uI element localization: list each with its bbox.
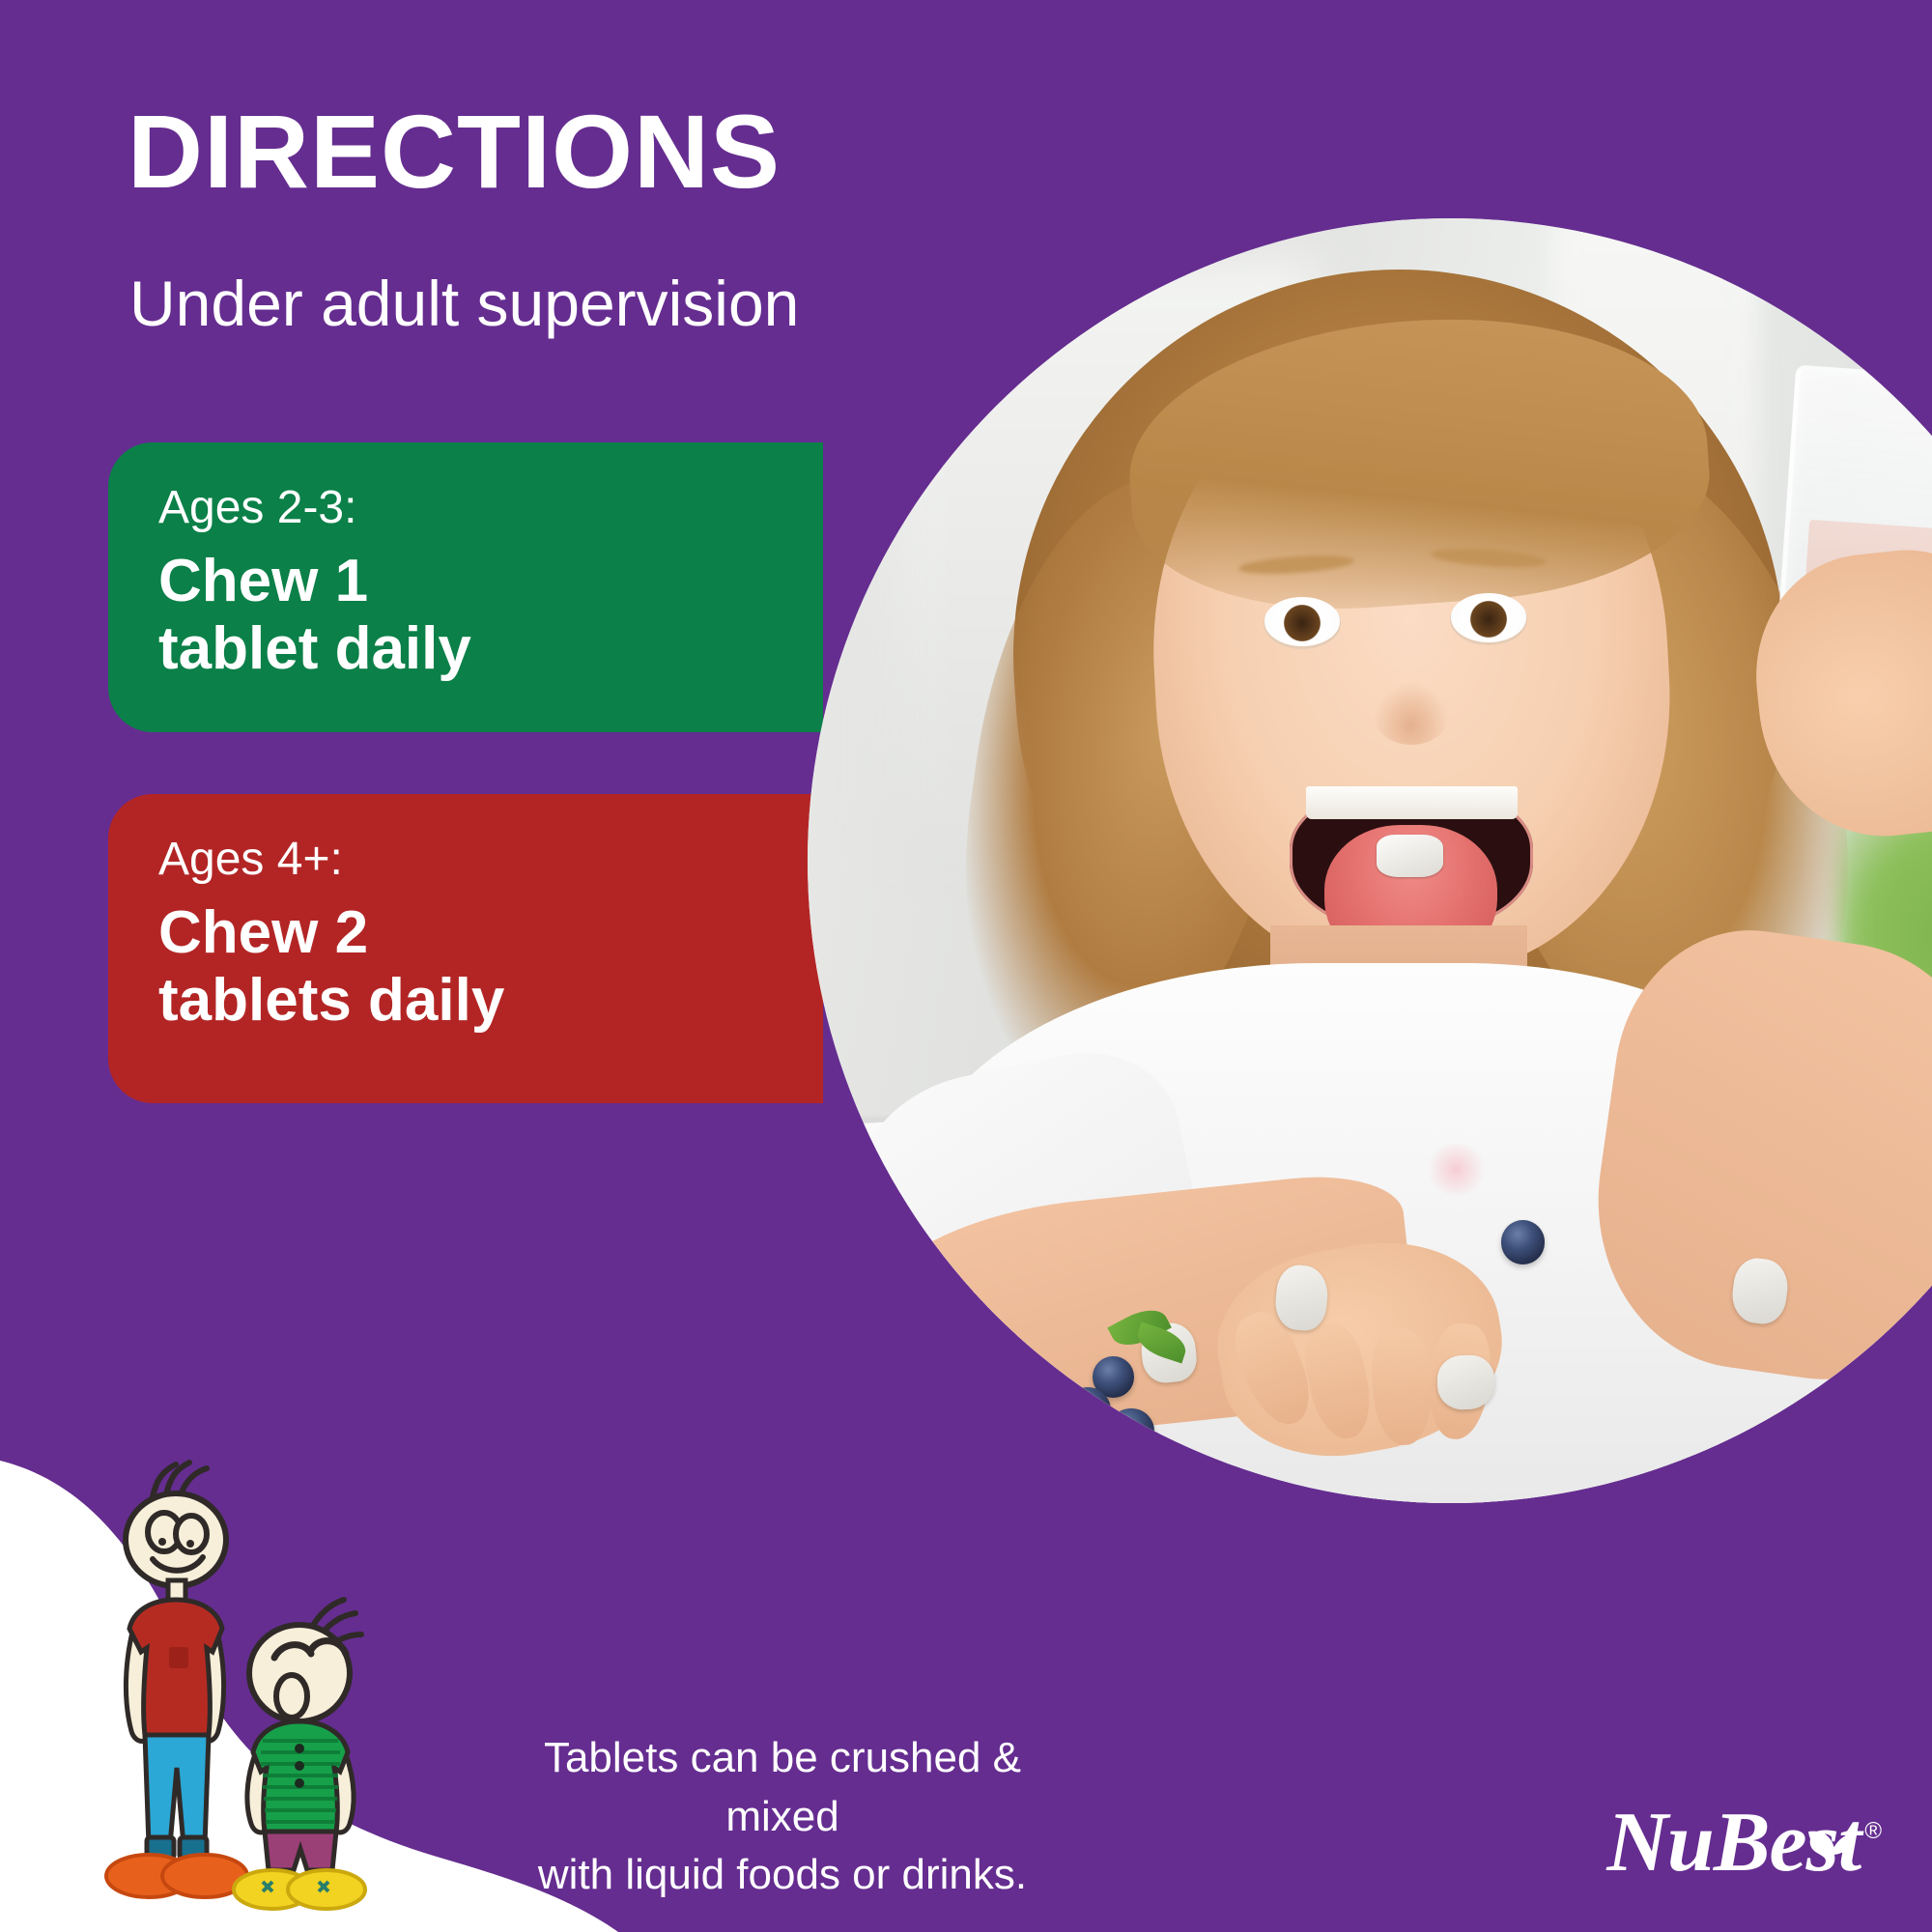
- registered-mark: ®: [1864, 1818, 1882, 1845]
- dosage-line-2: tablet daily: [158, 615, 823, 684]
- photo-inner: [808, 218, 1932, 1503]
- short-cartoon-kid: [234, 1600, 365, 1909]
- dosage-badge-ages-4-plus: Ages 4+: Chew 2 tablets daily: [108, 794, 823, 1103]
- cartoon-kids-illustration: [68, 1459, 386, 1922]
- footnote-line-2: with liquid foods or drinks.: [483, 1846, 1082, 1905]
- dosage-line-2: tablets daily: [158, 967, 823, 1036]
- tshirt-graphic: [1424, 1144, 1489, 1195]
- nose: [1373, 681, 1450, 746]
- product-photo: [808, 218, 1932, 1503]
- dosage-ages-label: Ages 4+:: [158, 835, 823, 886]
- page-title: DIRECTIONS: [128, 97, 781, 206]
- tall-cartoon-kid: [106, 1463, 247, 1897]
- blueberry: [1108, 1408, 1154, 1455]
- page-subtitle: Under adult supervision: [129, 269, 799, 339]
- dosage-badge-ages-2-3: Ages 2-3: Chew 1 tablet daily: [108, 442, 823, 732]
- blueberry: [1065, 1387, 1111, 1434]
- footnote-line-1: Tablets can be crushed & mixed: [483, 1729, 1082, 1846]
- dosage-line-1: Chew 1: [158, 548, 823, 616]
- brand-name: NuBest: [1606, 1801, 1861, 1886]
- eye-left: [1264, 597, 1341, 648]
- blueberry: [1501, 1220, 1545, 1264]
- dosage-line-1: Chew 2: [158, 899, 823, 968]
- tablet-bear: [1436, 1354, 1494, 1410]
- teeth: [1306, 786, 1518, 820]
- footnote: Tablets can be crushed & mixed with liqu…: [483, 1729, 1082, 1905]
- poster-canvas: DIRECTIONS Under adult supervision Ages …: [0, 0, 1932, 1932]
- eye-right: [1450, 593, 1527, 644]
- brand-logo: NuBest ®: [1606, 1801, 1882, 1886]
- tablet-on-tongue: [1377, 835, 1443, 877]
- dosage-ages-label: Ages 2-3:: [158, 483, 823, 534]
